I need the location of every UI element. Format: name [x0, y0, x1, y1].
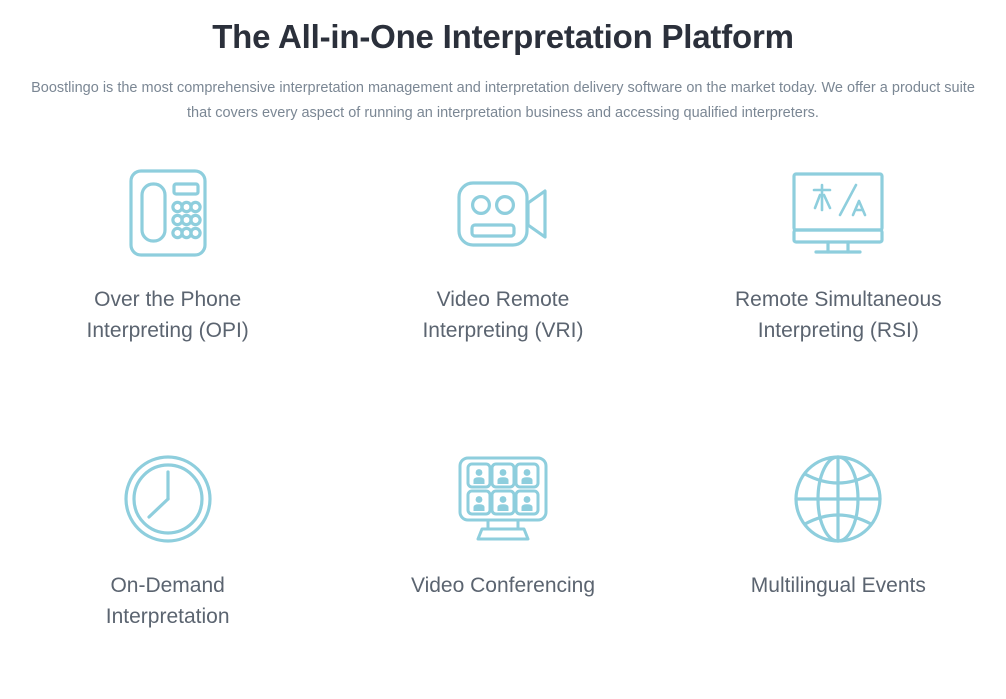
feature-item-vri[interactable]: Video Remote Interpreting (VRI) — [335, 158, 670, 444]
feature-label: On-Demand Interpretation — [106, 570, 230, 632]
page-subtitle: Boostlingo is the most comprehensive int… — [23, 57, 983, 126]
feature-label: Video Conferencing — [411, 570, 595, 601]
feature-label: Multilingual Events — [751, 570, 926, 601]
feature-item-video-conferencing[interactable]: Video Conferencing — [335, 444, 670, 632]
feature-grid: Over the Phone Interpreting (OPI) Video … — [0, 158, 1006, 632]
feature-label: Remote Simultaneous Interpreting (RSI) — [735, 284, 942, 346]
monitor-translate-icon — [788, 158, 888, 268]
feature-item-multilingual-events[interactable]: Multilingual Events — [671, 444, 1006, 632]
feature-label: Over the Phone Interpreting (OPI) — [87, 284, 249, 346]
video-camera-icon — [455, 158, 551, 268]
video-conference-grid-icon — [454, 444, 552, 554]
clock-icon — [122, 444, 214, 554]
page-title: The All-in-One Interpretation Platform — [0, 0, 1006, 57]
feature-item-on-demand[interactable]: On-Demand Interpretation — [0, 444, 335, 632]
desk-phone-icon — [127, 158, 209, 268]
feature-item-rsi[interactable]: Remote Simultaneous Interpreting (RSI) — [671, 158, 1006, 444]
feature-item-opi[interactable]: Over the Phone Interpreting (OPI) — [0, 158, 335, 444]
landing-page-section: The All-in-One Interpretation Platform B… — [0, 0, 1006, 699]
globe-icon — [792, 444, 884, 554]
feature-label: Video Remote Interpreting (VRI) — [422, 284, 583, 346]
